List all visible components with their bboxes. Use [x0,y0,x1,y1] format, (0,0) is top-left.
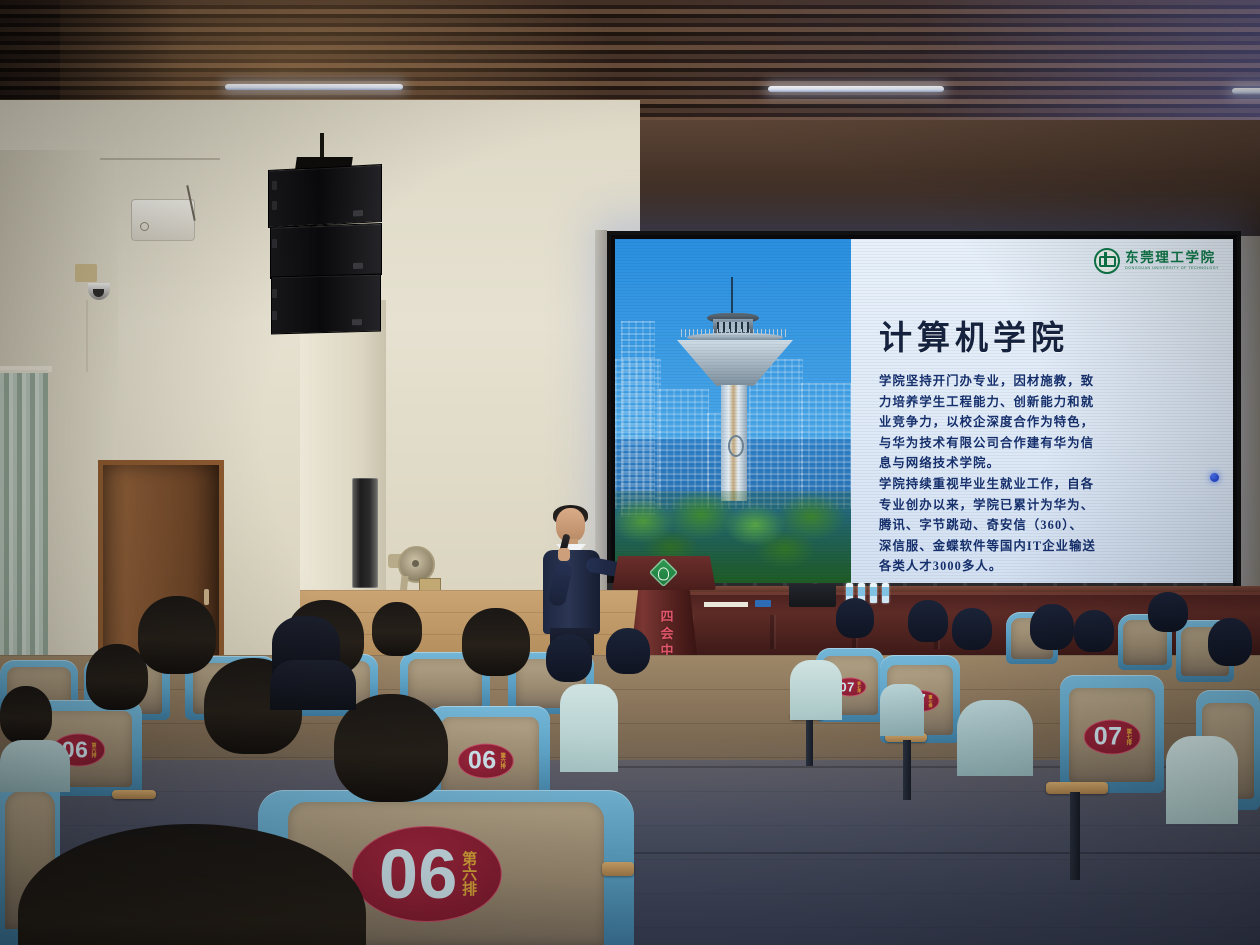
seat-back-panel: 07 第七排 [1069,688,1154,782]
armrest-left-1 [112,790,156,799]
speaker-cabinet-top [268,164,382,228]
university-logo: 东莞理工学院 DONGGUAN UNIVERSITY OF TECHNOLOGY [1094,248,1219,274]
slide-title: 计算机学院 [879,311,1069,359]
arm-post-right-2 [903,740,911,800]
tower-antenna [731,277,733,317]
audience-head-l5 [372,602,422,656]
presenter-head [556,508,585,542]
audience-head-l1 [0,686,52,744]
recessed-wall-panel [352,478,378,588]
seat-row-label: 第七排 [928,695,932,708]
armrest-foreground [602,862,634,876]
slide-text-panel: 东莞理工学院 DONGGUAN UNIVERSITY OF TECHNOLOGY… [851,239,1233,587]
auditorium-scene: 东莞理工学院 DONGGUAN UNIVERSITY OF TECHNOLOGY… [0,0,1260,945]
audience-shoulder-r1 [790,660,842,720]
audience-head-r1 [836,598,874,638]
speaker-rib-1 [272,181,277,190]
seat-number: 07 [1094,725,1123,750]
speaker-rib-4 [272,289,277,298]
photo-building-2 [621,321,655,517]
speaker-rib-3 [272,239,277,248]
table-folder [755,600,771,607]
presentation-slide: 东莞理工学院 DONGGUAN UNIVERSITY OF TECHNOLOGY… [615,239,1233,587]
wall-cable [100,158,220,160]
audience-head-l3 [138,596,216,674]
audience-head-r4 [1030,604,1074,650]
audience-shoulder-r3 [1166,736,1238,824]
audience-head-r2 [908,600,948,642]
upper-wall-panel [600,120,1260,240]
bottled-water-4 [882,583,889,603]
audience-head-l6 [462,608,530,676]
seat-back-panel: 06 第六排 [441,717,539,800]
audience-shoulder-l1 [560,684,618,772]
led-video-wall[interactable]: 东莞理工学院 DONGGUAN UNIVERSITY OF TECHNOLOGY… [607,231,1241,595]
seat-row-label: 第七排 [1125,729,1131,746]
audience-head-l10 [606,628,650,674]
seat-row-label: 第七排 [857,681,861,692]
audience-shoulder-l3 [270,660,356,710]
ceiling-light-2 [768,86,944,92]
line-array-loudspeaker [268,133,386,343]
seat-number: 06 [468,748,497,773]
seat-row-label: 第六排 [499,753,505,769]
presenter [528,508,614,654]
slide-body-text: 学院坚持开门办专业，因材施教，致 力培养学生工程能力、创新能力和就 业竞争力，以… [879,371,1209,577]
seat-badge: 06 第六排 [458,743,514,778]
tower-logo [728,435,744,457]
camera-cable [86,300,88,372]
audience-head-r6 [1208,618,1252,666]
ceiling-light-3 [1232,88,1260,94]
arm-post-right-1 [806,718,813,766]
seat-badge: 06 第六排 [352,826,502,922]
speaker-rib-2 [272,201,277,210]
speaker-cabinet-bottom [271,274,381,335]
university-emblem-icon [1094,248,1120,274]
audience-shoulder-l2 [0,740,70,792]
university-name-cn: 东莞理工学院 [1125,251,1219,265]
seat-row7-near[interactable]: 07 第七排 [1060,675,1164,793]
audience-head-l2 [86,644,148,710]
seat-badge: 07 第七排 [1084,720,1141,755]
slide-photo-water-tower [615,239,851,587]
window-curtain[interactable] [0,370,48,683]
speaker-cabinet-mid [270,223,382,279]
audience-shoulder-r4 [880,684,924,736]
ceiling-light-1 [225,84,403,90]
audience-head-l9 [546,634,592,682]
audience-head-r7 [1148,592,1188,632]
camera-mount [75,264,97,282]
floor-seam-2 [590,852,1260,854]
audience-head-r3 [952,608,992,650]
audience-head-r5 [1074,610,1114,652]
arm-post-right-3 [1070,792,1080,880]
laptop-on-stage-table[interactable] [789,584,836,607]
presenter-left-hand [558,548,570,561]
bottled-water-3 [870,583,877,603]
university-name-en: DONGGUAN UNIVERSITY OF TECHNOLOGY [1125,267,1219,271]
seat-number: 06 [379,839,458,909]
screen-indicator-dot [1210,473,1219,482]
wall-mounted-equipment-box [131,199,195,241]
audience-shoulder-r2 [957,700,1033,776]
seat-row-label: 第六排 [90,743,95,758]
speaker-rib-5 [272,311,277,320]
audience-head-l8 [334,694,448,802]
seat-row-label: 第六排 [460,851,475,896]
